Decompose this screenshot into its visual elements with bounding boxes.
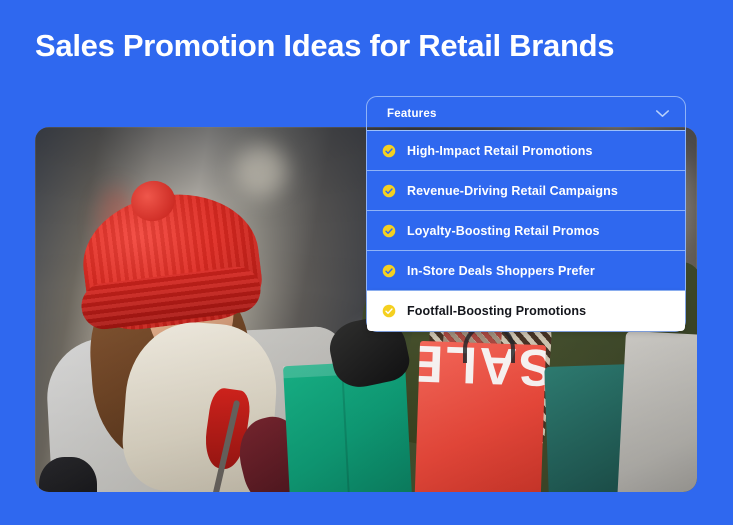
dropdown-header[interactable]: Features — [367, 97, 685, 131]
dropdown-item-label: In-Store Deals Shoppers Prefer — [407, 264, 595, 278]
dropdown-item-revenue-driving-retail-campaigns[interactable]: Revenue-Driving Retail Campaigns — [367, 171, 685, 211]
dropdown-item-footfall-boosting-promotions[interactable]: Footfall-Boosting Promotions — [367, 291, 685, 331]
check-circle-icon — [382, 304, 396, 318]
dropdown-item-loyalty-boosting-retail-promos[interactable]: Loyalty-Boosting Retail Promos — [367, 211, 685, 251]
check-circle-icon — [382, 224, 396, 238]
dropdown-item-high-impact-retail-promotions[interactable]: High-Impact Retail Promotions — [367, 131, 685, 171]
chevron-down-icon[interactable] — [655, 109, 670, 118]
check-circle-icon — [382, 144, 396, 158]
check-circle-icon — [382, 264, 396, 278]
page-title: Sales Promotion Ideas for Retail Brands — [35, 28, 655, 64]
dropdown-label: Features — [387, 108, 437, 120]
dropdown-item-label: Loyalty-Boosting Retail Promos — [407, 224, 600, 238]
dropdown-item-label: Revenue-Driving Retail Campaigns — [407, 184, 618, 198]
dropdown-item-in-store-deals-shoppers-prefer[interactable]: In-Store Deals Shoppers Prefer — [367, 251, 685, 291]
dropdown-item-label: High-Impact Retail Promotions — [407, 144, 593, 158]
dropdown-list: High-Impact Retail Promotions Revenue-Dr… — [367, 131, 685, 331]
features-dropdown[interactable]: Features High-Impact Retail Promotions — [366, 96, 686, 332]
dropdown-item-label: Footfall-Boosting Promotions — [407, 304, 586, 318]
check-circle-icon — [382, 184, 396, 198]
